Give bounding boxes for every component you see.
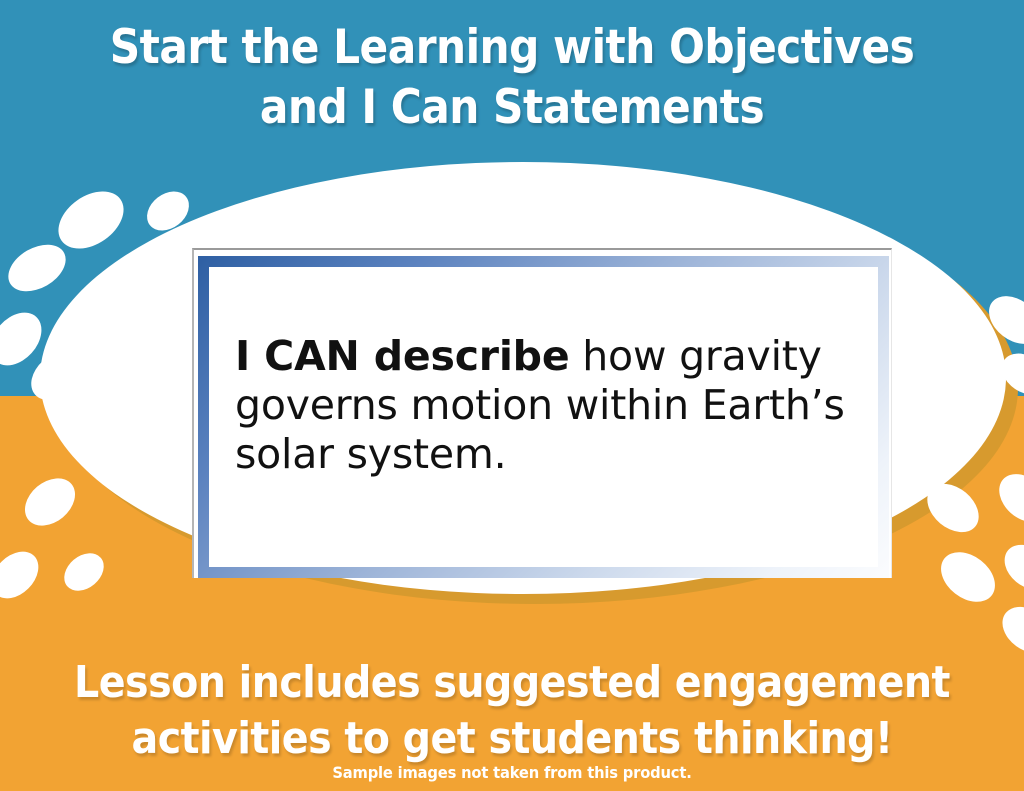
footer-headline-line-2: activities to get students thinking! xyxy=(51,711,973,767)
card-inner-surface: I CAN describe how gravity governs motio… xyxy=(209,267,878,567)
footer-headline-line-1: Lesson includes suggested engagement xyxy=(51,655,973,711)
page-title: Start the Learning with Objectives and I… xyxy=(51,18,973,138)
card-gradient-border: I CAN describe how gravity governs motio… xyxy=(198,256,889,578)
page-title-line-2: and I Can Statements xyxy=(51,78,973,138)
footer-headline: Lesson includes suggested engagement act… xyxy=(51,655,973,768)
i-can-statement: I CAN describe how gravity governs motio… xyxy=(235,332,852,478)
objective-card: I CAN describe how gravity governs motio… xyxy=(192,248,892,578)
i-can-statement-bold: I CAN describe xyxy=(235,332,569,380)
page-title-line-1: Start the Learning with Objectives xyxy=(51,18,973,78)
slide-canvas: I CAN describe how gravity governs motio… xyxy=(0,0,1024,791)
disclaimer-text: Sample images not taken from this produc… xyxy=(41,763,983,782)
